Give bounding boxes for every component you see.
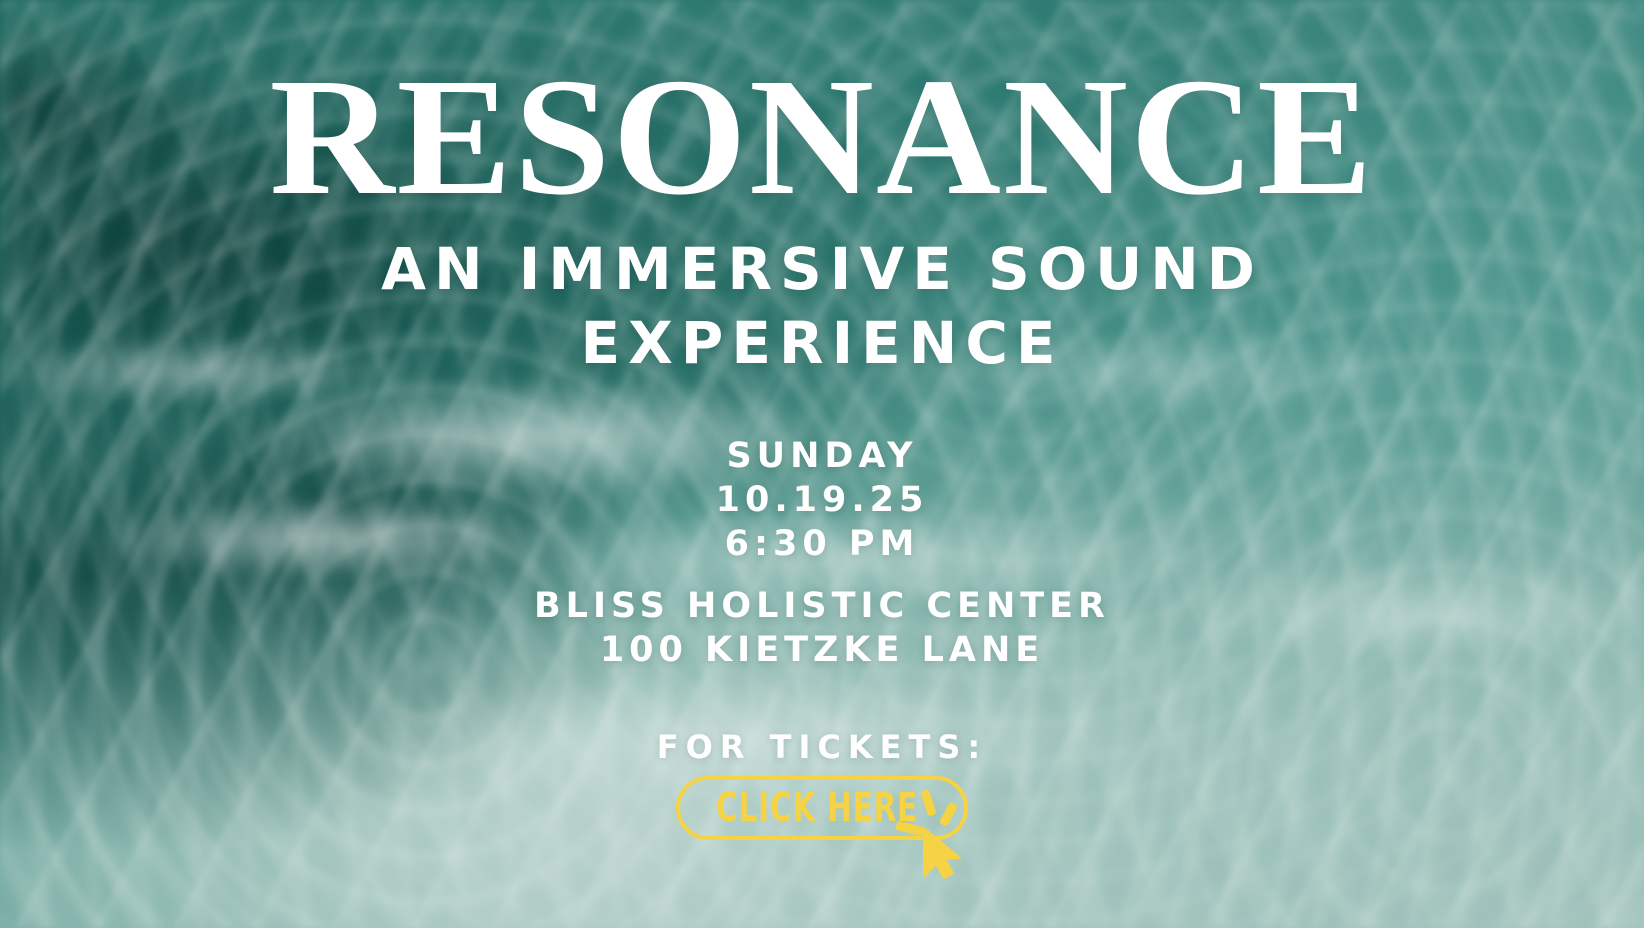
venue-address: 100 KIETZKE LANE <box>0 628 1644 672</box>
event-date-block: SUNDAY 10.19.25 6:30 PM <box>0 434 1644 566</box>
poster-content: RESONANCE AN IMMERSIVE SOUND EXPERIENCE … <box>0 0 1644 928</box>
tickets-label: FOR TICKETS: <box>0 728 1644 766</box>
poster-subtitle: AN IMMERSIVE SOUND EXPERIENCE <box>0 232 1644 380</box>
event-venue-block: BLISS HOLISTIC CENTER 100 KIETZKE LANE <box>0 584 1644 672</box>
event-day: SUNDAY <box>0 434 1644 478</box>
click-here-button[interactable]: CLICK HERE <box>676 776 968 840</box>
venue-name: BLISS HOLISTIC CENTER <box>0 584 1644 628</box>
subtitle-line-2: EXPERIENCE <box>0 306 1644 380</box>
event-date: 10.19.25 <box>0 478 1644 522</box>
click-here-button-label: CLICK HERE <box>716 785 918 831</box>
event-time: 6:30 PM <box>0 522 1644 566</box>
subtitle-line-1: AN IMMERSIVE SOUND <box>0 232 1644 306</box>
cta-container: CLICK HERE <box>0 776 1644 840</box>
page-title: RESONANCE <box>0 52 1644 223</box>
event-poster: RESONANCE AN IMMERSIVE SOUND EXPERIENCE … <box>0 0 1644 928</box>
